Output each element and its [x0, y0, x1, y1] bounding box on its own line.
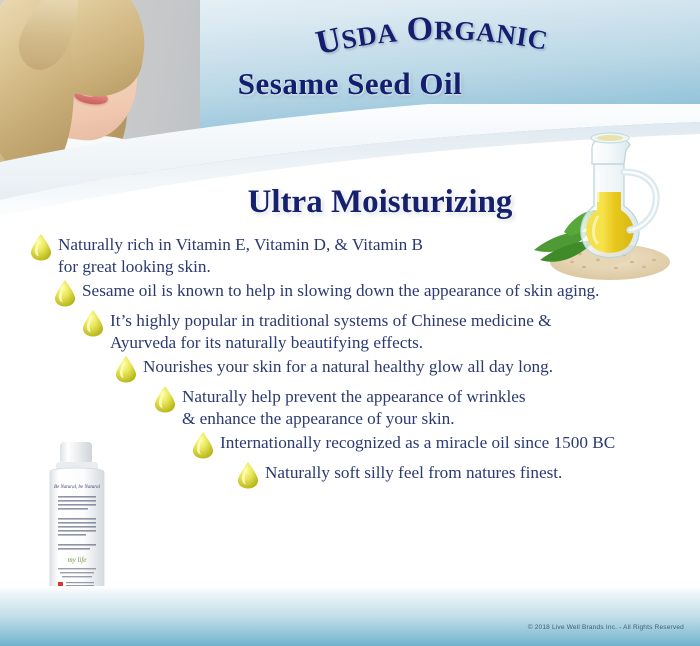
benefit-item: It’s highly popular in traditional syste… — [0, 310, 700, 354]
oil-drop-icon — [235, 460, 261, 490]
poster-canvas: USDA ORGANIC Sesame Seed Oil Ultra Moist… — [0, 0, 700, 646]
benefit-item: Internationally recognized as a miracle … — [0, 432, 700, 460]
oil-drop-icon — [80, 308, 106, 338]
benefit-text: Naturally help prevent the appearance of… — [182, 386, 526, 430]
footer-background — [0, 586, 700, 646]
oil-drop-icon — [190, 430, 216, 460]
page-title-arched: USDA ORGANIC — [0, 14, 700, 72]
benefit-item: Naturally rich in Vitamin E, Vitamin D, … — [0, 234, 700, 278]
oil-drop-icon — [113, 354, 139, 384]
oil-drop-icon — [152, 384, 178, 414]
svg-text:my life: my life — [68, 556, 87, 564]
benefit-text: Naturally rich in Vitamin E, Vitamin D, … — [58, 234, 423, 278]
benefit-text: Sesame oil is known to help in slowing d… — [82, 280, 599, 302]
benefits-list: Naturally rich in Vitamin E, Vitamin D, … — [0, 234, 700, 492]
benefit-item: Naturally soft silly feel from natures f… — [0, 462, 700, 490]
page-subtitle: Sesame Seed Oil — [0, 66, 700, 102]
copyright-text: © 2018 Live Well Brands Inc. - All Right… — [528, 624, 684, 631]
benefit-item: Sesame oil is known to help in slowing d… — [0, 280, 700, 308]
benefit-item: Nourishes your skin for a natural health… — [0, 356, 700, 384]
benefit-text: Naturally soft silly feel from natures f… — [265, 462, 562, 484]
benefit-text: Nourishes your skin for a natural health… — [143, 356, 553, 378]
benefit-text: Internationally recognized as a miracle … — [220, 432, 615, 454]
oil-drop-icon — [28, 232, 54, 262]
benefit-text: It’s highly popular in traditional syste… — [110, 310, 552, 354]
oil-drop-icon — [52, 278, 78, 308]
benefit-item: Naturally help prevent the appearance of… — [0, 386, 700, 430]
svg-text:USDA ORGANIC: USDA ORGANIC — [312, 14, 550, 62]
